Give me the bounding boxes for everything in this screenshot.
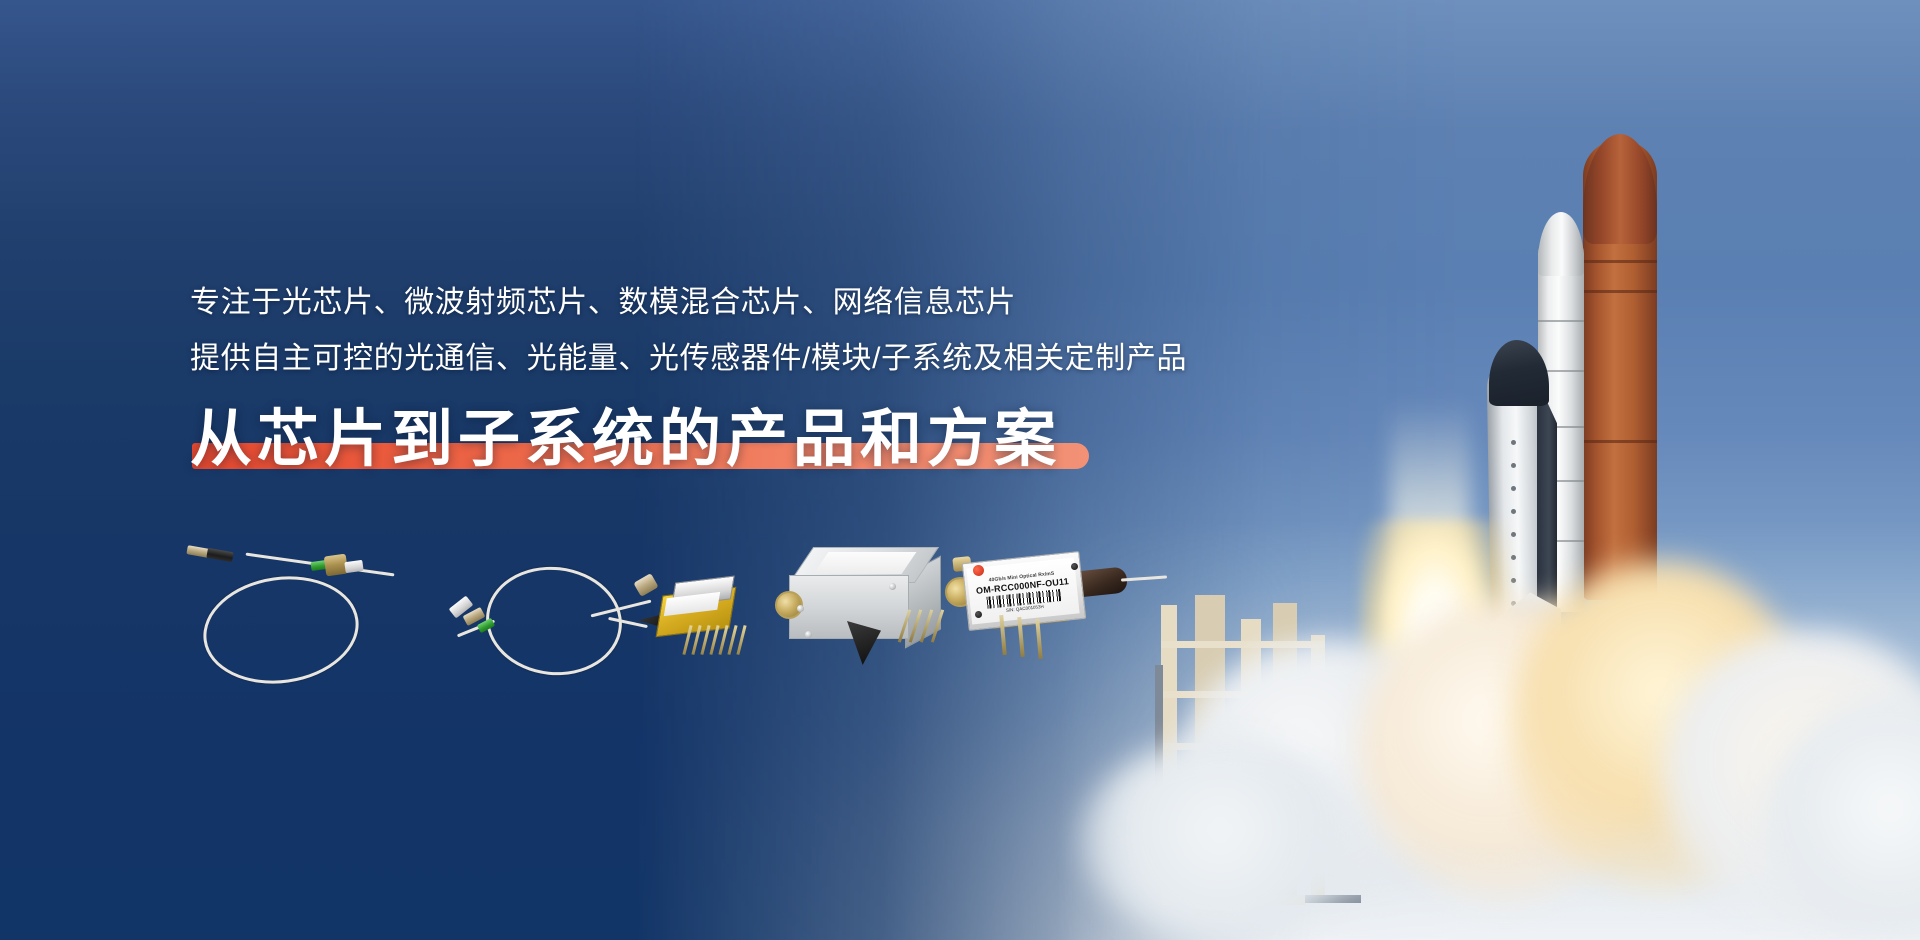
product-butterfly-laser-module <box>640 569 765 669</box>
fiber-connector-boot <box>206 548 233 562</box>
butterfly-package-pins <box>686 625 748 659</box>
product-optical-receiver-module: 40Gb/s Mini Optical Rx/mS OM-RCC000NF-OU… <box>945 541 1135 671</box>
hero-banner: 专注于光芯片、微波射频芯片、数模混合芯片、网络信息芯片 提供自主可控的光通信、光… <box>0 0 1920 940</box>
receiver-pins <box>1001 615 1061 659</box>
srb-nose-icon <box>1538 212 1584 276</box>
banner-headline: 从芯片到子系统的产品和方案 <box>190 405 1061 474</box>
banner-subtitle-line-2: 提供自主可控的光通信、光能量、光传感器件/模块/子系统及相关定制产品 <box>190 336 1290 382</box>
metal-box-label <box>814 552 917 574</box>
fiber-cable-loop <box>196 567 365 694</box>
fiber-cable-loop <box>481 560 628 682</box>
product-rf-metal-box-module <box>785 547 960 667</box>
product-fiber-patch-cord-1 <box>185 535 405 685</box>
banner-copy: 专注于光芯片、微波射频芯片、数模混合芯片、网络信息芯片 提供自主可控的光通信、光… <box>190 280 1290 475</box>
banner-subtitle-line-1: 专注于光芯片、微波射频芯片、数模混合芯片、网络信息芯片 <box>190 280 1290 326</box>
banner-headline-wrap: 从芯片到子系统的产品和方案 <box>190 405 1061 474</box>
product-showcase-row: 40Gb/s Mini Optical Rx/mS OM-RCC000NF-OU… <box>185 525 1065 685</box>
smoke-cloud <box>1080 740 1360 940</box>
